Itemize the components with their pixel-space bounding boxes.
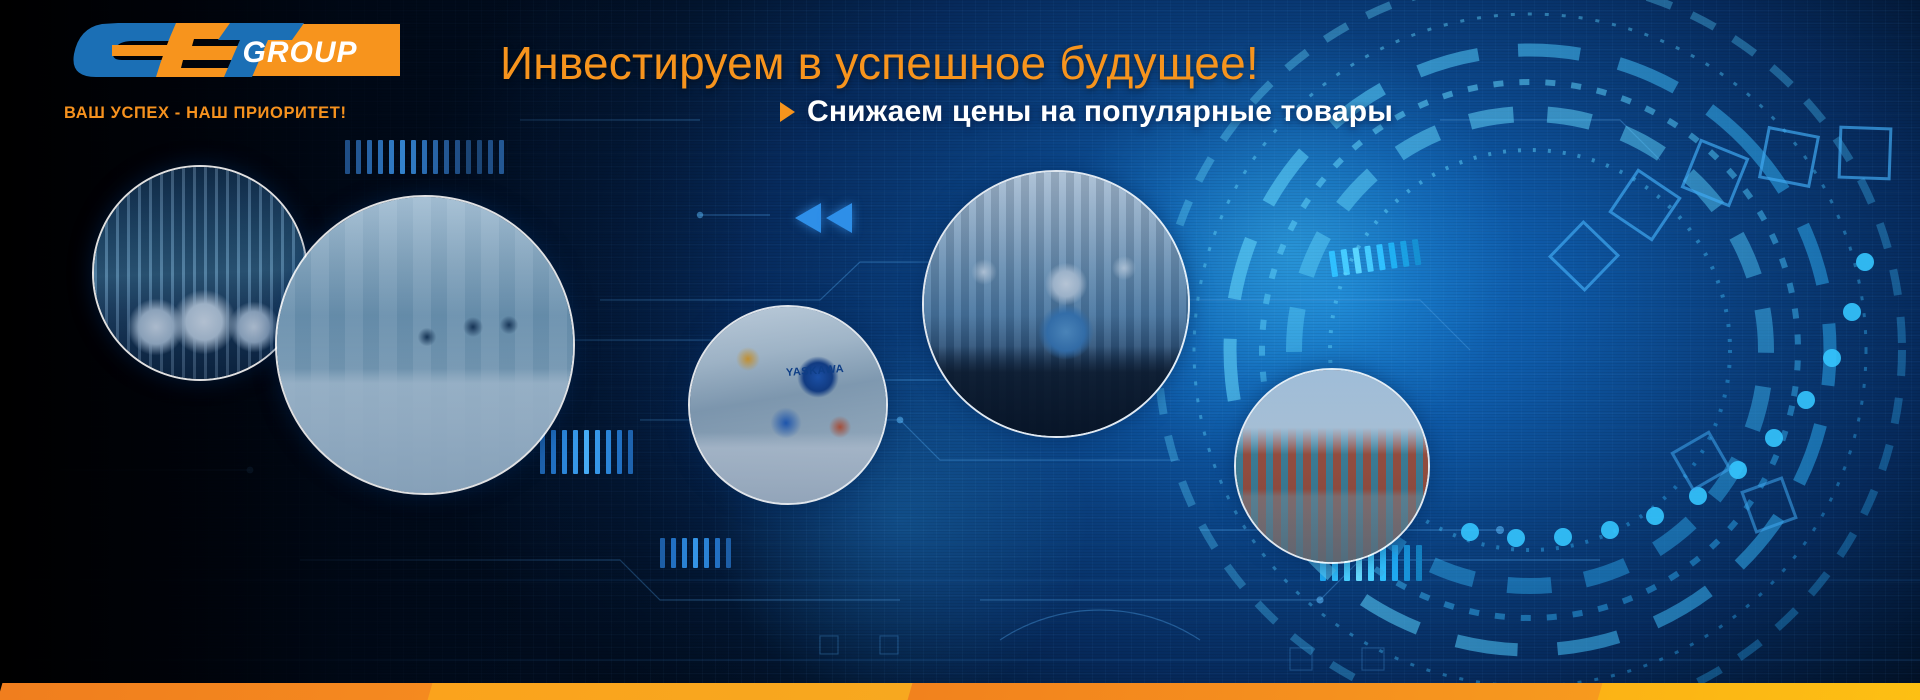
office-printers-photo bbox=[275, 195, 575, 495]
logo-tagline: ВАШ УСПЕХ - НАШ ПРИОРИТЕТ! bbox=[64, 104, 347, 123]
cet-group-logo[interactable]: GROUP ВАШ УСПЕХ - НАШ ПРИОРИТЕТ! bbox=[52, 18, 402, 118]
company-building-photo bbox=[1234, 368, 1430, 564]
tick-bars-top-left bbox=[345, 140, 504, 174]
play-arrow-icon bbox=[780, 102, 795, 122]
bottom-bar-segment bbox=[908, 683, 1613, 700]
robot-arm-photo: YASKAWA bbox=[688, 305, 888, 505]
bottom-bar-segment bbox=[428, 683, 923, 700]
promo-banner: YASKAWA GROUP bbox=[0, 0, 1920, 700]
bottom-bar-segment bbox=[1598, 683, 1920, 700]
bottom-accent-bar bbox=[0, 683, 1920, 700]
headline-secondary: Снижаем цены на популярные товары bbox=[807, 95, 1393, 129]
bottom-bar-segment bbox=[0, 683, 442, 700]
logo-mark-icon: GROUP bbox=[52, 18, 402, 80]
svg-text:GROUP: GROUP bbox=[242, 36, 357, 69]
headline-primary: Инвестируем в успешное будущее! bbox=[500, 36, 1259, 90]
tick-bars-bottom-center bbox=[660, 538, 731, 568]
double-chevron-left-icon bbox=[795, 203, 852, 233]
cleanroom-workers-photo bbox=[922, 170, 1190, 438]
headline-secondary-row: Снижаем цены на популярные товары bbox=[780, 95, 1393, 129]
